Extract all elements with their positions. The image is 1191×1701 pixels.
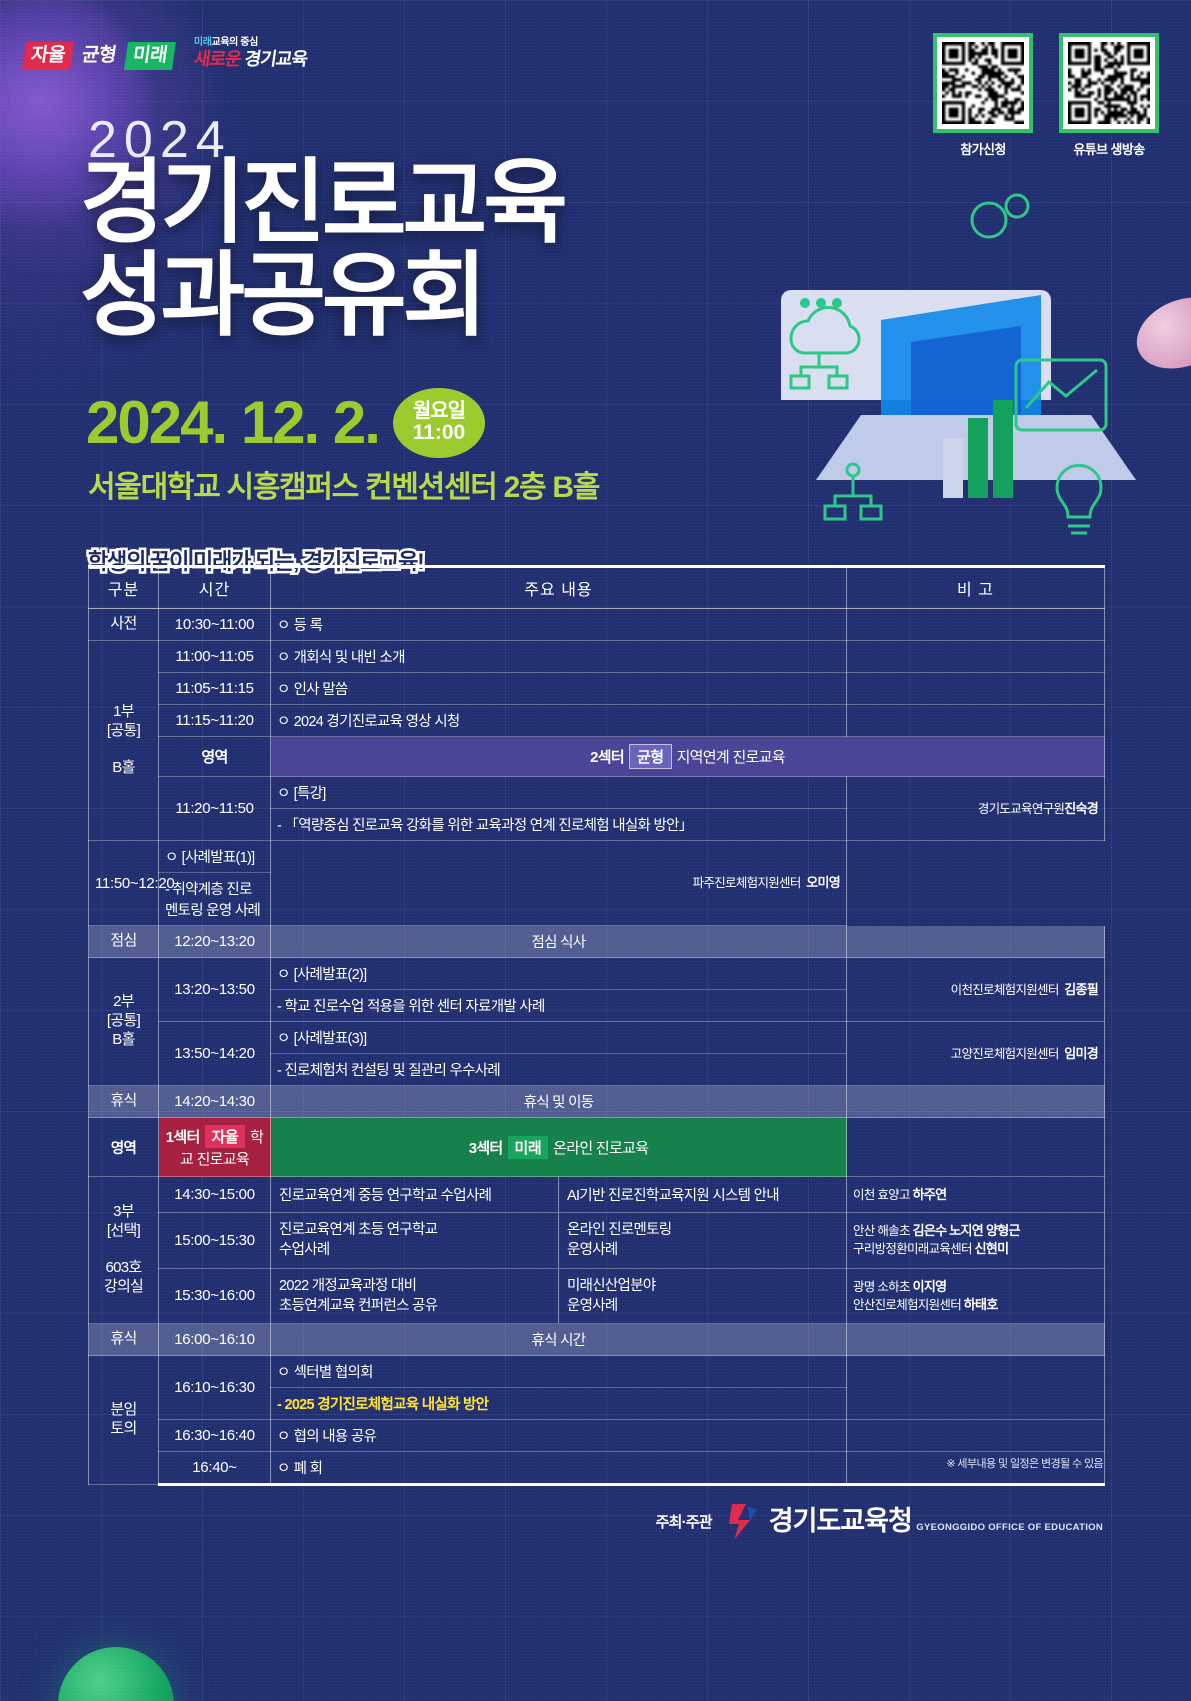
qr-canvas-apply	[942, 42, 1024, 124]
col-header-division: 구분	[89, 567, 159, 609]
sector-header-row-select: 영역 1섹터자율학교 진로교육 3섹터미래온라인 진로교육	[89, 1118, 1105, 1177]
cell-note: 파주진로체험지원센터 오미영	[271, 841, 847, 926]
table-row: 15:00~15:30 진로교육연계 초등 연구학교수업사례 온라인 진로멘토링…	[89, 1213, 1105, 1269]
brand-tagline-bottom-2: 경기교육	[243, 49, 308, 69]
col-header-content: 주요 내용	[271, 567, 847, 609]
cell-time: 14:30~15:00	[159, 1177, 271, 1213]
table-row: 11:05~11:15 ㅇ인사 말씀	[89, 673, 1105, 705]
sector-number: 2섹터	[590, 749, 624, 766]
ggoe-name-kr: 경기도교육청	[769, 1506, 912, 1536]
usb-icon	[825, 464, 881, 519]
sector3-content: AI기반 진로진학교육지원 시스템 안내	[558, 1177, 846, 1212]
cell-content: ㅇ[특강]	[271, 777, 847, 809]
event-day: 월요일	[413, 401, 465, 423]
part2-line-2: [공통]	[95, 1012, 152, 1031]
sector-title: 지역연계 진로교육	[677, 749, 785, 766]
cell-time: 16:30~16:40	[159, 1420, 271, 1452]
cell-note: 고양진로체험지원센터 임미경	[847, 1022, 1105, 1086]
sector3-content: 미래신산업분야운영사례	[558, 1269, 846, 1324]
sector1-content: 진로교육연계 중등 연구학교 수업사례	[271, 1177, 558, 1212]
cell-note: 광명 소하초 이지영 안산진로체험지원센터 하태호	[847, 1268, 1105, 1324]
highlight-topic: - 2025 경기진로체험교육 내실화 방안	[277, 1397, 488, 1413]
brand-keyword-balance: 균형	[78, 42, 120, 70]
brand-tagline: 미래교육의 중심 새로운 경기교육	[194, 33, 307, 70]
table-row: 2부 [공통] B홀 13:20~13:50 ㅇ[사례발표(2)] 이천진로체험…	[89, 958, 1105, 990]
event-date: 2024. 12. 2.	[86, 393, 379, 453]
cell-content: ㅇ폐 회	[271, 1452, 847, 1485]
cell-time: 11:15~11:20	[159, 705, 271, 737]
decor-pink-pill	[1126, 284, 1191, 381]
sector1-content: 진로교육연계 초등 연구학교수업사례	[271, 1213, 558, 1268]
col-header-note: 비 고	[847, 567, 1105, 609]
schedule-table-wrap: 구분 시간 주요 내용 비 고 사전 10:30~11:00 ㅇ등 록 1부 […	[88, 565, 1104, 1486]
cell-content: 휴식 시간	[271, 1324, 847, 1356]
ggoe-wordmark: 경기도교육청 GYEONGGIDO OFFICE OF EDUCATION	[769, 1508, 1103, 1535]
decor-illustration	[761, 170, 1191, 570]
cell-note	[847, 1356, 1105, 1420]
table-row: 3부 [선택] . 603호 강의실 14:30~15:00 진로교육연계 중등…	[89, 1177, 1105, 1213]
table-row: 16:30~16:40 ㅇ협의 내용 공유	[89, 1420, 1105, 1452]
sector-balance-banner: 2섹터균형지역연계 진로교육	[271, 737, 1105, 777]
poster-canvas: 자율 균형 미래 미래교육의 중심 새로운 경기교육 참가신청 유튜브 생방송	[0, 0, 1191, 1701]
sector-chip-future: 미래	[508, 1136, 549, 1159]
discuss-line-1: 분임	[95, 1401, 152, 1420]
cloud-icon	[791, 308, 859, 388]
gear-icon	[972, 203, 1006, 237]
cell-content: ㅇ2024 경기진로교육 영상 시청	[271, 705, 847, 737]
sector-row-label: 영역	[89, 1118, 159, 1177]
page-title: 경기진로교육 성과공유회	[80, 160, 564, 341]
cell-division: 휴식	[89, 1086, 159, 1118]
cell-time: 15:00~15:30	[159, 1213, 271, 1269]
cell-content-split: 진로교육연계 초등 연구학교수업사례 온라인 진로멘토링운영사례	[271, 1213, 847, 1269]
col-header-time: 시간	[159, 567, 271, 609]
cell-content-sub: - 진로체험처 컨설팅 및 질관리 우수사례	[271, 1054, 847, 1086]
sector3-content: 온라인 진로멘토링운영사례	[558, 1213, 846, 1268]
brand-keyword-autonomy: 자율	[22, 42, 74, 70]
ggoe-name-en: GYEONGGIDO OFFICE OF EDUCATION	[916, 1522, 1103, 1533]
cell-time: 11:05~11:15	[159, 673, 271, 705]
cell-division-discussion: 분임 토의	[89, 1356, 159, 1485]
cell-content-sub: - 2025 경기진로체험교육 내실화 방안	[271, 1388, 847, 1420]
table-row-lunch: 점심 12:20~13:20 점심 식사	[89, 926, 1105, 958]
cell-note	[847, 926, 1105, 958]
cell-content-sub: - 「역량중심 진로교육 강화를 위한 교육과정 연계 진로체험 내실화 방안」	[271, 809, 847, 841]
brand-tagline-bottom-1: 새로운	[193, 49, 242, 69]
table-header-row: 구분 시간 주요 내용 비 고	[89, 567, 1105, 609]
cell-note	[847, 641, 1105, 673]
cell-content-split: 진로교육연계 중등 연구학교 수업사례 AI기반 진로진학교육지원 시스템 안내	[271, 1177, 847, 1213]
table-row: 사전 10:30~11:00 ㅇ등 록	[89, 609, 1105, 641]
event-day-badge: 월요일 11:00	[393, 388, 485, 458]
cell-note	[847, 1420, 1105, 1452]
part1-line-3: B홀	[95, 759, 152, 778]
event-venue: 서울대학교 시흥캠퍼스 컨벤션센터 2층 B홀	[88, 462, 599, 506]
cell-division-part1: 1부 [공통] . B홀	[89, 641, 159, 841]
event-date-row: 2024. 12. 2. 월요일 11:00	[86, 388, 485, 458]
part3-line-3: 603호	[95, 1259, 152, 1278]
footnote: ※ 세부내용 및 일정은 변경될 수 있음	[946, 1455, 1103, 1471]
table-row-break-2: 휴식 16:00~16:10 휴식 시간	[89, 1324, 1105, 1356]
cell-note	[847, 673, 1105, 705]
qr-code-group: 참가신청 유튜브 생방송	[933, 33, 1159, 158]
cell-time: 12:20~13:20	[159, 926, 271, 958]
chart-panel-icon	[1016, 360, 1106, 430]
table-row: 11:50~12:20 ㅇ[사례발표(1)] 파주진로체험지원센터 오미영	[89, 841, 1105, 873]
part2-line-3: B홀	[95, 1031, 152, 1050]
cell-division-part3: 3부 [선택] . 603호 강의실	[89, 1177, 159, 1324]
table-row: 13:50~14:20 ㅇ[사례발표(3)] 고양진로체험지원센터 임미경	[89, 1022, 1105, 1054]
sector-title: 온라인 진로교육	[553, 1140, 648, 1157]
cell-time: 11:20~11:50	[159, 777, 271, 841]
decor-green-sphere	[58, 1647, 174, 1701]
sector-number: 1섹터	[166, 1129, 200, 1146]
sector1-content: 2022 개정교육과정 대비초등연계교육 컨퍼런스 공유	[271, 1269, 558, 1324]
part3-line-1: 3부	[95, 1203, 152, 1222]
cell-content: ㅇ등 록	[271, 609, 847, 641]
cell-note	[847, 609, 1105, 641]
title-line-1: 경기진로교육	[80, 160, 564, 247]
sector-banner-future: 3섹터미래온라인 진로교육	[271, 1118, 847, 1177]
cell-note	[847, 1118, 1105, 1177]
footer-logo-group: 주최·주관 경기도교육청 GYEONGGIDO OFFICE OF EDUCAT…	[656, 1500, 1103, 1542]
cell-time: 14:20~14:30	[159, 1086, 271, 1118]
table-row-break-1: 휴식 14:20~14:30 휴식 및 이동	[89, 1086, 1105, 1118]
cell-time: 11:50~12:20	[89, 841, 159, 926]
part3-line-4: 강의실	[95, 1278, 152, 1297]
ggoe-emblem-icon	[726, 1500, 760, 1542]
cell-note: 경기도교육연구원진숙경	[847, 777, 1105, 841]
qr-code-apply[interactable]	[933, 33, 1033, 133]
cell-time: 16:10~16:30	[159, 1356, 271, 1420]
host-label: 주최·주관	[656, 1511, 712, 1532]
cell-content: ㅇ[사례발표(2)]	[271, 958, 847, 990]
qr-item-apply[interactable]: 참가신청	[933, 33, 1033, 158]
cell-time: 16:00~16:10	[159, 1324, 271, 1356]
brand-tagline-top-1: 미래	[194, 37, 212, 48]
table-row: 11:20~11:50 ㅇ[특강] 경기도교육연구원진숙경	[89, 777, 1105, 809]
cell-note: 이천 효양고 하주연	[847, 1177, 1105, 1213]
part2-line-1: 2부	[95, 993, 152, 1012]
brand-lockup: 자율 균형 미래 미래교육의 중심 새로운 경기교육	[24, 33, 307, 70]
cell-note: 이천진로체험지원센터 김종필	[847, 958, 1105, 1022]
table-row: 1부 [공통] . B홀 11:00~11:05 ㅇ개회식 및 내빈 소개	[89, 641, 1105, 673]
cell-time: 15:30~16:00	[159, 1268, 271, 1324]
bar-chart-icon	[943, 400, 1013, 498]
cell-time: 13:50~14:20	[159, 1022, 271, 1086]
table-row: 11:15~11:20 ㅇ2024 경기진로교육 영상 시청	[89, 705, 1105, 737]
table-row: 15:30~16:00 2022 개정교육과정 대비초등연계교육 컨퍼런스 공유…	[89, 1268, 1105, 1324]
schedule-table: 구분 시간 주요 내용 비 고 사전 10:30~11:00 ㅇ등 록 1부 […	[88, 565, 1105, 1486]
cell-content: ㅇ[사례발표(3)]	[271, 1022, 847, 1054]
cell-content: ㅇ개회식 및 내빈 소개	[271, 641, 847, 673]
cell-content: ㅇ협의 내용 공유	[271, 1420, 847, 1452]
cell-time: 11:00~11:05	[159, 641, 271, 673]
cell-note: 안산 해솔초 김은수 노지연 양형근 구리방정환미래교육센터 신현미	[847, 1213, 1105, 1269]
brand-keyword-future: 미래	[124, 42, 176, 70]
title-line-2: 성과공유회	[80, 253, 564, 340]
sector-row-label: 영역	[159, 737, 271, 777]
cell-content: 점심 식사	[271, 926, 847, 958]
qr-item-youtube[interactable]: 유튜브 생방송	[1059, 33, 1159, 158]
cell-content: ㅇ[사례발표(1)]	[159, 841, 271, 873]
cell-content-sub: - 학교 진로수업 적용을 위한 센터 자료개발 사례	[271, 990, 847, 1022]
qr-label-youtube: 유튜브 생방송	[1059, 139, 1159, 158]
cell-content-sub: - 취약계층 진로멘토링 운영 사례	[159, 873, 271, 926]
cell-content-split: 2022 개정교육과정 대비초등연계교육 컨퍼런스 공유 미래신산업분야운영사례	[271, 1268, 847, 1324]
qr-label-apply: 참가신청	[933, 139, 1033, 158]
discuss-line-2: 토의	[95, 1420, 152, 1439]
sector-chip-balance: 균형	[629, 744, 672, 769]
cell-division: 점심	[89, 926, 159, 958]
part1-line-1: 1부	[95, 703, 152, 722]
cell-content: ㅇ섹터별 협의회	[271, 1356, 847, 1388]
cell-note	[847, 1086, 1105, 1118]
cell-time: 10:30~11:00	[159, 609, 271, 641]
cell-division-part2: 2부 [공통] B홀	[89, 958, 159, 1086]
qr-canvas-youtube	[1068, 42, 1150, 124]
cell-division: 휴식	[89, 1324, 159, 1356]
cell-note	[847, 1324, 1105, 1356]
cell-content: ㅇ인사 말씀	[271, 673, 847, 705]
event-time: 11:00	[413, 422, 466, 445]
brand-tagline-top-2: 교육의 중심	[212, 37, 258, 48]
cell-content: 휴식 및 이동	[271, 1086, 847, 1118]
cell-division: 사전	[89, 609, 159, 641]
part1-line-2: [공통]	[95, 722, 152, 741]
part3-line-2: [선택]	[95, 1222, 152, 1241]
sector-banner-autonomy: 1섹터자율학교 진로교육	[159, 1118, 271, 1177]
cell-time: 16:40~	[159, 1452, 271, 1485]
table-row: 분임 토의 16:10~16:30 ㅇ섹터별 협의회	[89, 1356, 1105, 1388]
lightbulb-icon	[1057, 465, 1101, 533]
ggoe-logo: 경기도교육청 GYEONGGIDO OFFICE OF EDUCATION	[726, 1500, 1103, 1542]
sector-number: 3섹터	[469, 1140, 503, 1157]
cell-time: 13:20~13:50	[159, 958, 271, 1022]
sector-chip-autonomy: 자율	[205, 1125, 246, 1148]
sector-header-row-balance: 영역 2섹터균형지역연계 진로교육	[89, 737, 1105, 777]
cell-note	[847, 705, 1105, 737]
qr-code-youtube[interactable]	[1059, 33, 1159, 133]
